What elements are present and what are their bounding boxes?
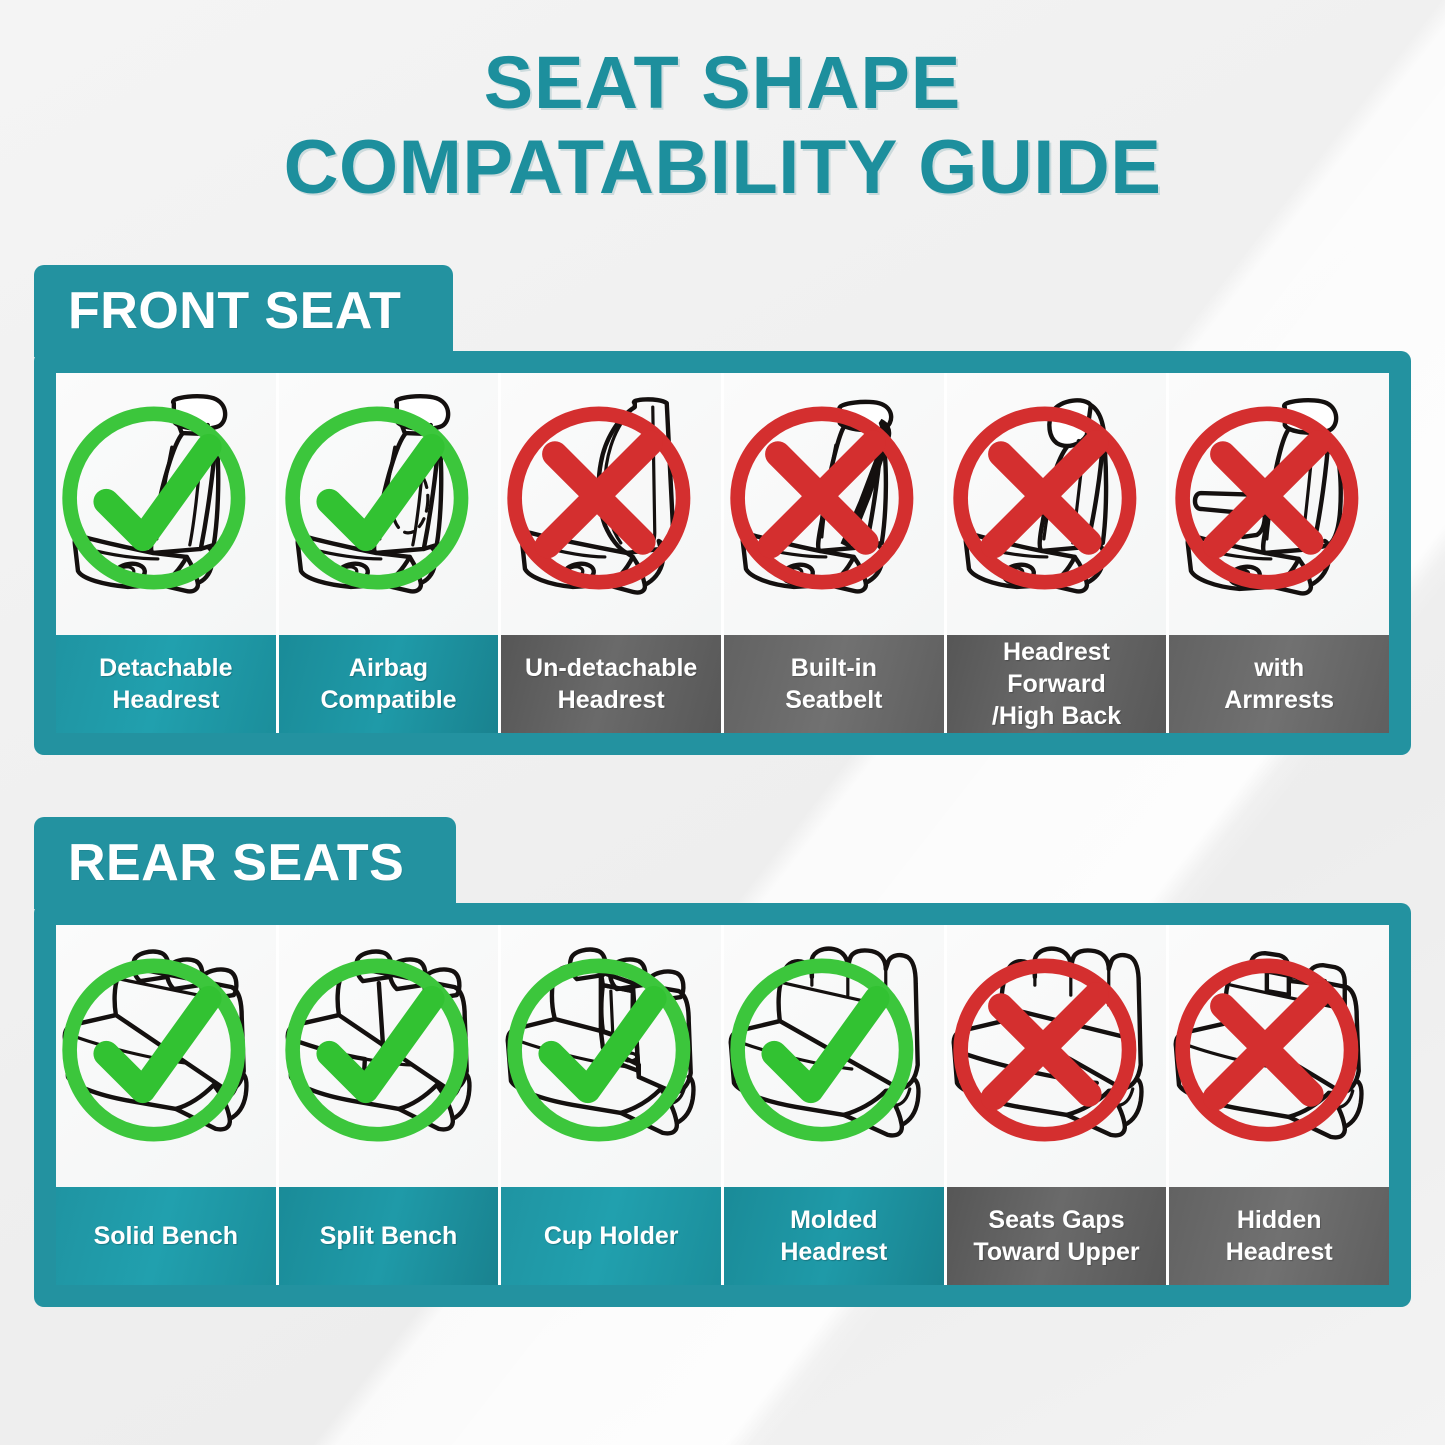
label-line-2: Headrest [780,1238,887,1266]
label-line-1: Airbag [349,654,428,682]
label-line-2: /High Back [992,702,1121,730]
label-front-seat-undetachable-headrest: Un-detachable Headrest [501,635,724,733]
cross-circle-icon [1157,373,1377,629]
check-circle-icon [267,925,487,1181]
page-title-line-1: SEAT SHAPE [0,42,1445,125]
page-title: SEAT SHAPE COMPATABILITY GUIDE [0,0,1445,210]
cell-rear-seat-solid-bench[interactable] [56,925,279,1187]
rear-seats-illustration-row [56,925,1389,1187]
front-seat-illustration-row [56,373,1389,635]
cell-front-seat-detachable-headrest[interactable] [56,373,279,635]
label-line-1: Seats Gaps [988,1206,1124,1234]
page-title-line-2: COMPATABILITY GUIDE [0,125,1445,210]
cross-circle-icon [1157,925,1377,1181]
cell-rear-seat-split-bench[interactable] [279,925,502,1187]
label-rear-seat-seats-gaps-toward-upper: Seats Gaps Toward Upper [947,1187,1170,1285]
label-line-1: Solid Bench [94,1220,238,1252]
label-front-seat-headrest-forward-high-back: Headrest Forward /High Back [947,635,1170,733]
label-line-1: Cup Holder [544,1220,679,1252]
label-line-1: Hidden [1237,1206,1322,1234]
section-tab-rear-seats: REAR SEATS [34,817,456,909]
cell-rear-seat-cup-holder[interactable] [501,925,724,1187]
label-line-1: Molded [790,1206,878,1234]
check-circle-icon [712,925,932,1181]
label-front-seat-detachable-headrest: Detachable Headrest [56,635,279,733]
label-front-seat-with-armrests: with Armrests [1169,635,1389,733]
cell-rear-seat-molded-headrest[interactable] [724,925,947,1187]
section-front-seat: FRONT SEAT [34,265,1411,755]
label-line-1: Detachable [99,654,232,682]
cross-circle-icon [712,373,932,629]
section-tab-front-seat: FRONT SEAT [34,265,453,357]
check-circle-icon [267,373,487,629]
cross-circle-icon [935,925,1155,1181]
infographic-page: SEAT SHAPE COMPATABILITY GUIDE FRONT SEA… [0,0,1445,1445]
label-rear-seat-cup-holder: Cup Holder [501,1187,724,1285]
cell-front-seat-built-in-seatbelt[interactable] [724,373,947,635]
label-front-seat-airbag-compatible: Airbag Compatible [279,635,502,733]
cross-circle-icon [935,373,1155,629]
label-line-1: Un-detachable [525,654,697,682]
label-line-2: Headrest [558,686,665,714]
rear-seats-frame: Solid Bench Split Bench Cup Holder Molde… [34,903,1411,1307]
cell-rear-seat-seats-gaps-toward-upper[interactable] [947,925,1170,1187]
label-line-1: Built-in [791,654,877,682]
label-rear-seat-solid-bench: Solid Bench [56,1187,279,1285]
cell-rear-seat-hidden-headrest[interactable] [1169,925,1389,1187]
label-line-1: with [1254,654,1304,682]
label-line-2: Headrest [1226,1238,1333,1266]
label-line-2: Toward Upper [973,1238,1139,1266]
cell-front-seat-with-armrests[interactable] [1169,373,1389,635]
section-rear-seats: REAR SEATS [34,817,1411,1307]
check-circle-icon [489,925,709,1181]
cross-circle-icon [489,373,709,629]
front-seat-label-row: Detachable Headrest Airbag Compatible Un… [56,635,1389,733]
label-line-1: Headrest Forward [1003,638,1110,698]
label-line-2: Seatbelt [785,686,882,714]
check-circle-icon [56,373,264,629]
label-rear-seat-split-bench: Split Bench [279,1187,502,1285]
label-line-2: Armrests [1224,686,1334,714]
cell-front-seat-airbag-compatible[interactable] [279,373,502,635]
cell-front-seat-undetachable-headrest[interactable] [501,373,724,635]
label-line-2: Headrest [112,686,219,714]
label-line-1: Split Bench [320,1220,458,1252]
cell-front-seat-headrest-forward-high-back[interactable] [947,373,1170,635]
label-rear-seat-hidden-headrest: Hidden Headrest [1169,1187,1389,1285]
check-circle-icon [56,925,264,1181]
label-front-seat-built-in-seatbelt: Built-in Seatbelt [724,635,947,733]
label-rear-seat-molded-headrest: Molded Headrest [724,1187,947,1285]
front-seat-frame: Detachable Headrest Airbag Compatible Un… [34,351,1411,755]
rear-seats-label-row: Solid Bench Split Bench Cup Holder Molde… [56,1187,1389,1285]
label-line-2: Compatible [320,686,456,714]
